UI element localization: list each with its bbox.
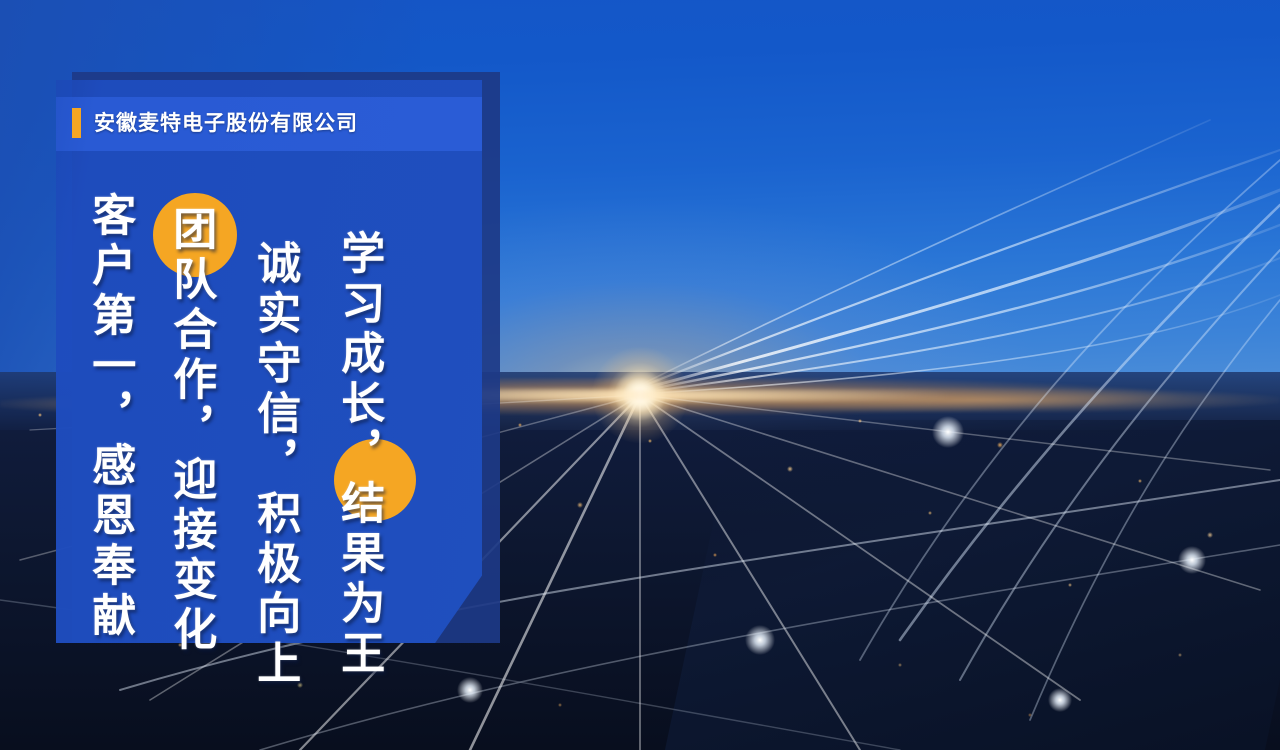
slogan-group: 学习成长，结果为王 诚实守信，积极向上 团队合作，迎接变化 客户第一，感恩奉献 [56, 80, 482, 643]
poster-canvas: 安徽麦特电子股份有限公司 学习成长，结果为王 诚实守信，积极向上 团队合作，迎接… [0, 0, 1280, 750]
slogan-column-honesty-integrity: 诚实守信，积极向上 [250, 240, 299, 690]
slogan-column-teamwork: 团队合作，迎接变化 [166, 206, 215, 656]
slogan-column-learning-growth: 学习成长，结果为王 [334, 230, 383, 680]
slogan-column-customer-first: 客户第一，感恩奉献 [85, 192, 134, 642]
